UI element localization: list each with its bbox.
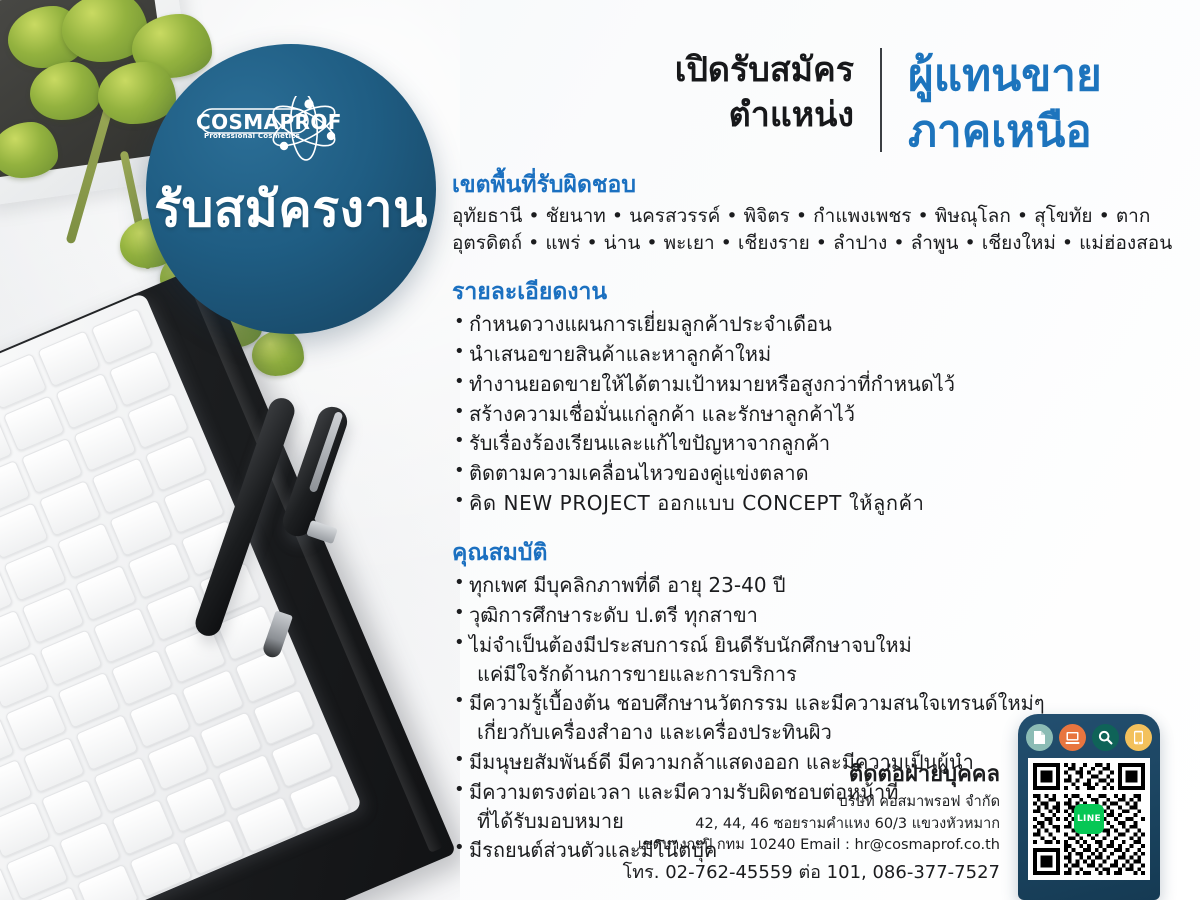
qr-code[interactable]: LINE: [1028, 758, 1150, 880]
duties-heading: รายละเอียดงาน: [452, 279, 1142, 307]
document-glyph: [1033, 730, 1046, 745]
position-title-line1: ผู้แทนขาย: [908, 48, 1102, 104]
plant-leaf: [252, 330, 304, 376]
header-lead-line2: ตำแหน่ง: [600, 93, 854, 138]
qualification-text: ไม่จำเป็นต้องมีประสบการณ์ ยินดีรับนักศึก…: [469, 633, 912, 657]
area-line-2: อุตรดิตถ์ • แพร่ • น่าน • พะเยา • เชียงร…: [452, 230, 1142, 257]
line-logo-icon: LINE: [1074, 804, 1104, 834]
qualification-text: วุฒิการศึกษาระดับ ป.ตรี ทุกสาขา: [469, 603, 758, 627]
contact-address-line-2: เขตบางกะปิ กทม 10240 Email : hr@cosmapro…: [580, 835, 1000, 856]
badge-title: รับสมัครงาน: [154, 184, 428, 234]
contact-block: ติดต่อฝ่ายบุคคล บริษัท คอสมาพรอฟ จำกัด 4…: [580, 762, 1000, 885]
document-icon[interactable]: [1026, 724, 1053, 751]
duty-text: นำเสนอขายสินค้าและหาลูกค้าใหม่: [469, 342, 771, 366]
duty-text: สร้างความเชื่อมั่นแก่ลูกค้า และรักษาลูกค…: [469, 402, 855, 426]
duties-list: กำหนดวางแผนการเยี่ยมลูกค้าประจำเดือน นำเ…: [452, 310, 1142, 518]
duty-item: นำเสนอขายสินค้าและหาลูกค้าใหม่: [452, 340, 1142, 369]
mobile-icon[interactable]: [1125, 724, 1152, 751]
duty-item: ทำงานยอดขายให้ได้ตามเป้าหมายหรือสูงกว่าท…: [452, 370, 1142, 399]
area-line-1: อุทัยธานี • ชัยนาท • นครสวรรค์ • พิจิตร …: [452, 203, 1142, 230]
duty-item: คิด NEW PROJECT ออกแบบ CONCEPT ให้ลูกค้า: [452, 489, 1142, 518]
cosmaprof-logo: COSMAPROF Professional Cosmetics: [196, 96, 386, 162]
logo-tagline: Professional Cosmetics: [196, 132, 308, 140]
logo-wordmark: COSMAPROF: [196, 110, 308, 134]
monitor-glyph: [1065, 731, 1080, 745]
duty-text: ทำงานยอดขายให้ได้ตามเป้าหมายหรือสูงกว่าท…: [469, 372, 955, 396]
recruitment-poster: COSMAPROF Professional Cosmetics รับสมัค…: [0, 0, 1200, 900]
contact-phone: โทร. 02-762-45559 ต่อ 101, 086-377-7527: [580, 860, 1000, 885]
monitor-icon[interactable]: [1059, 724, 1086, 751]
position-title-line2: ภาคเหนือ: [908, 104, 1102, 160]
magnifier-glyph: [1098, 730, 1113, 745]
qr-icon-row: [1026, 724, 1152, 751]
qualification-text: มีความรู้เบื้องต้น ชอบศึกษานวัตกรรม และม…: [469, 691, 1045, 715]
poster-header: เปิดรับสมัคร ตำแหน่ง ผู้แทนขาย ภาคเหนือ: [600, 48, 1160, 161]
duty-text: คิด NEW PROJECT ออกแบบ CONCEPT ให้ลูกค้า: [469, 491, 924, 515]
qualification-item: ทุกเพศ มีบุคลิกภาพที่ดี อายุ 23-40 ปี: [452, 571, 1142, 600]
qualifications-heading: คุณสมบัติ: [452, 540, 1142, 568]
brand-badge: COSMAPROF Professional Cosmetics รับสมัค…: [146, 44, 436, 334]
header-lead: เปิดรับสมัคร ตำแหน่ง: [600, 48, 880, 138]
plant-leaf: [0, 122, 58, 178]
duty-item: รับเรื่องร้องเรียนและแก้ไขปัญหาจากลูกค้า: [452, 429, 1142, 458]
search-icon[interactable]: [1092, 724, 1119, 751]
duty-item: สร้างความเชื่อมั่นแก่ลูกค้า และรักษาลูกค…: [452, 400, 1142, 429]
line-qr-card[interactable]: LINE: [1018, 714, 1160, 900]
qualification-text-cont: แค่มีใจรักด้านการขายและการบริการ: [469, 660, 1142, 689]
duty-item: ติดตามความเคลื่อนไหวของคู่แข่งตลาด: [452, 459, 1142, 488]
area-heading: เขตพื้นที่รับผิดชอบ: [452, 172, 1142, 200]
position-title: ผู้แทนขาย ภาคเหนือ: [882, 48, 1102, 161]
contact-company: บริษัท คอสมาพรอฟ จำกัด: [580, 792, 1000, 813]
qualification-text: ทุกเพศ มีบุคลิกภาพที่ดี อายุ 23-40 ปี: [469, 573, 786, 597]
header-lead-line1: เปิดรับสมัคร: [600, 48, 854, 93]
qualification-item: วุฒิการศึกษาระดับ ป.ตรี ทุกสาขา: [452, 601, 1142, 630]
qualification-item: ไม่จำเป็นต้องมีประสบการณ์ ยินดีรับนักศึก…: [452, 631, 1142, 689]
contact-title: ติดต่อฝ่ายบุคคล: [580, 762, 1000, 788]
duty-item: กำหนดวางแผนการเยี่ยมลูกค้าประจำเดือน: [452, 310, 1142, 339]
contact-address-line-1: 42, 44, 46 ซอยรามคำแหง 60/3 แขวงหัวหมาก: [580, 814, 1000, 835]
smartphone-glyph: [1133, 730, 1144, 745]
duty-text: รับเรื่องร้องเรียนและแก้ไขปัญหาจากลูกค้า: [469, 431, 830, 455]
duty-text: กำหนดวางแผนการเยี่ยมลูกค้าประจำเดือน: [469, 312, 832, 336]
duty-text: ติดตามความเคลื่อนไหวของคู่แข่งตลาด: [469, 461, 809, 485]
